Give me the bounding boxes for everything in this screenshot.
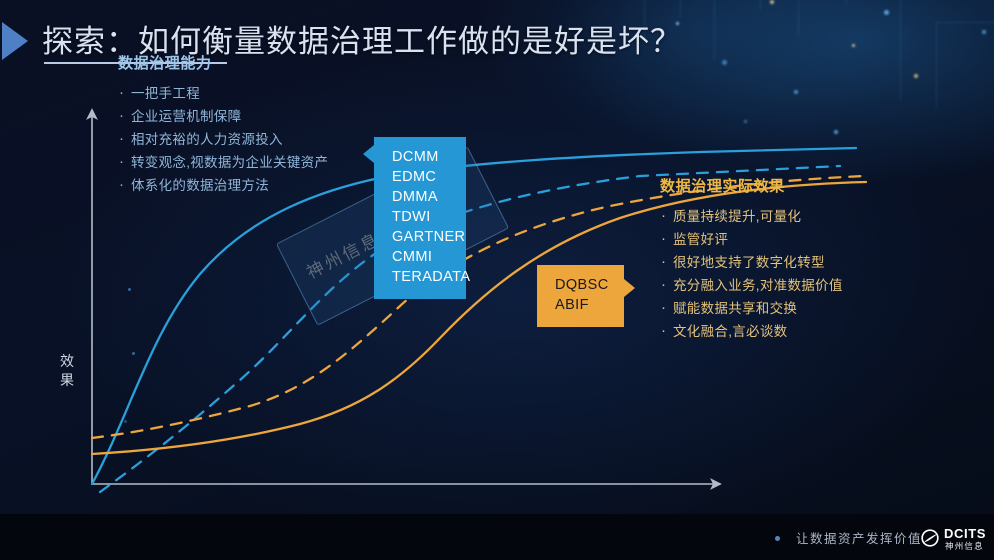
standards-callout: DCMM EDMC DMMA TDWI GARTNER CMMI TERADAT… (374, 137, 466, 299)
list-item: 很好地支持了数字化转型 (660, 251, 843, 274)
list-item: 监管好评 (660, 228, 843, 251)
footer-tagline: 让数据资产发挥价值 (796, 528, 922, 547)
capability-list: 一把手工程 企业运营机制保障 相对充裕的人力资源投入 转变观念,视数据为企业关键… (118, 82, 328, 197)
effect-heading: 数据治理实际效果 (660, 175, 843, 196)
effect-block: 数据治理实际效果 质量持续提升,可量化 监管好评 很好地支持了数字化转型 充分融… (660, 175, 843, 343)
list-item: 体系化的数据治理方法 (118, 174, 328, 197)
list-item: 赋能数据共享和交换 (660, 297, 843, 320)
standard-item: TDWI (392, 207, 452, 227)
standard-item: GARTNER (392, 227, 452, 247)
list-item: 文化融合,言必谈数 (660, 320, 843, 343)
triangle-right-icon (2, 22, 28, 60)
list-item: 转变观念,视数据为企业关键资产 (118, 151, 328, 174)
standard-item: CMMI (392, 247, 452, 267)
logo-subtitle: 神州信息 (945, 540, 984, 552)
metrics-callout: DQBSC ABIF (537, 265, 624, 327)
standard-item: TERADATA (392, 267, 452, 287)
metric-item: DQBSC (555, 275, 610, 295)
list-item: 相对充裕的人力资源投入 (118, 128, 328, 151)
metric-item: ABIF (555, 295, 610, 315)
capability-block: 数据治理能力 一把手工程 企业运营机制保障 相对充裕的人力资源投入 转变观念,视… (118, 52, 328, 197)
y-axis-label: 效果 (56, 352, 78, 390)
callout-tail-icon (624, 279, 635, 297)
list-item: 质量持续提升,可量化 (660, 205, 843, 228)
list-item: 企业运营机制保障 (118, 105, 328, 128)
standard-item: EDMC (392, 167, 452, 187)
standard-item: DCMM (392, 147, 452, 167)
bullet-dot-icon (775, 536, 780, 541)
dcits-swirl-icon (920, 528, 940, 548)
company-logo: DCITS 神州信息 (920, 526, 988, 552)
slide-footer: 让数据资产发挥价值 DCITS 神州信息 (0, 514, 994, 560)
list-item: 充分融入业务,对准数据价值 (660, 274, 843, 297)
callout-tail-icon (363, 145, 374, 163)
slide-canvas: 探索：如何衡量数据治理工作做的是好是坏？ 效果 时间&投入 (0, 0, 994, 560)
list-item: 一把手工程 (118, 82, 328, 105)
capability-heading: 数据治理能力 (118, 52, 328, 73)
effect-list: 质量持续提升,可量化 监管好评 很好地支持了数字化转型 充分融入业务,对准数据价… (660, 205, 843, 343)
standard-item: DMMA (392, 187, 452, 207)
logo-name: DCITS (944, 526, 986, 541)
